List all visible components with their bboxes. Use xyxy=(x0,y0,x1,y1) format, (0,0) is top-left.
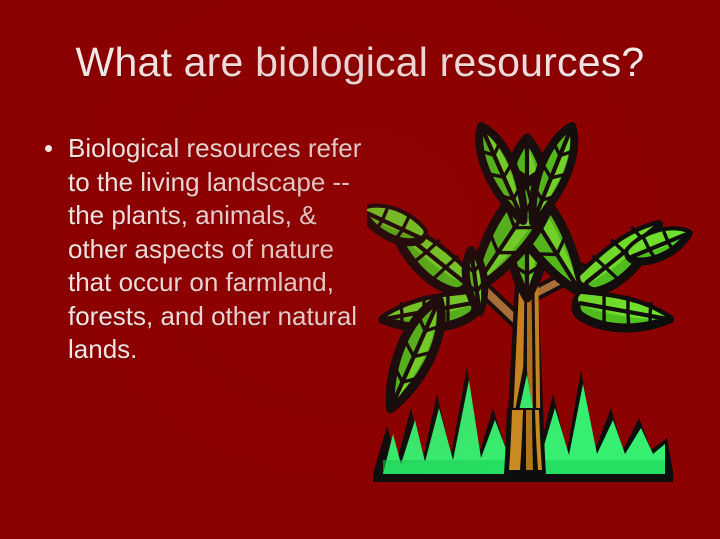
slide-canvas: What are biological resources? Biologica… xyxy=(0,0,720,539)
tree-trunk-base xyxy=(504,408,546,474)
bullet-text: Biological resources refer to the living… xyxy=(68,133,361,364)
list-item: Biological resources refer to the living… xyxy=(36,132,366,367)
page-title: What are biological resources? xyxy=(0,38,720,86)
tree-illustration: .ol { stroke: #0d0d0d; stroke-linejoin: … xyxy=(367,108,715,500)
body-text-block: Biological resources refer to the living… xyxy=(36,132,366,367)
bullet-dot-icon xyxy=(45,145,52,152)
